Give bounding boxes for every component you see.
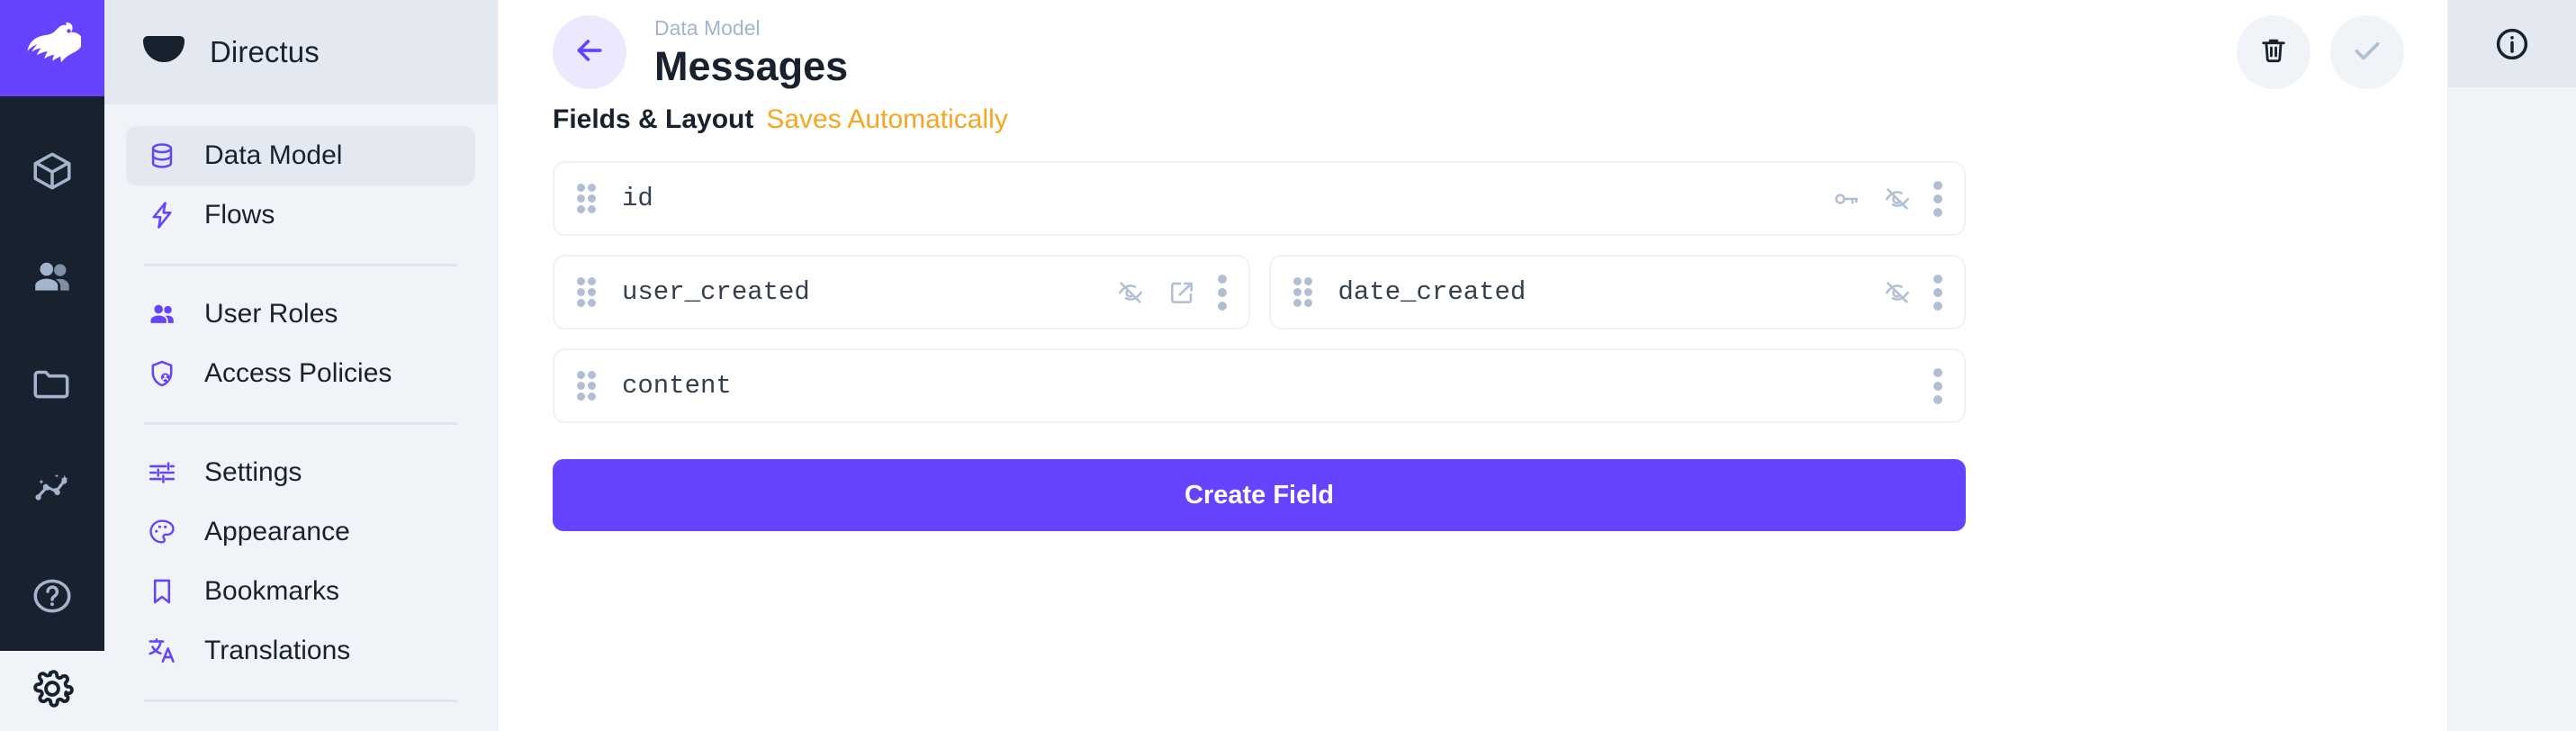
kebab-menu-icon[interactable] — [1933, 368, 1942, 404]
back-button[interactable] — [553, 15, 626, 89]
section-title: Fields & Layout — [553, 104, 753, 135]
sidebar-item-access-policies[interactable]: Access Policies — [126, 344, 475, 403]
sidebar-divider — [144, 699, 457, 702]
field-name: user_created — [622, 277, 810, 307]
drag-handle-icon[interactable] — [577, 373, 600, 400]
navigation-sidebar: Directus Data Model — [104, 0, 498, 731]
kebab-menu-icon[interactable] — [1933, 275, 1942, 311]
drag-handle-icon[interactable] — [577, 279, 600, 306]
fields-layout-section: Fields & Layout Saves Automatically id — [498, 104, 2447, 531]
sidebar-item-bookmarks[interactable]: Bookmarks — [126, 562, 475, 621]
sidebar-item-label: Data Model — [204, 140, 342, 171]
page-title-block: Data Model Messages — [654, 15, 848, 88]
users-icon — [30, 255, 75, 304]
field-card-user-created[interactable]: user_created — [553, 255, 1250, 329]
sidebar-item-data-model[interactable]: Data Model — [126, 126, 475, 185]
sidebar-item-label: Bookmarks — [204, 576, 339, 607]
gear-icon — [29, 665, 76, 717]
save-button[interactable] — [2330, 15, 2404, 89]
drag-handle-icon[interactable] — [1293, 279, 1317, 306]
trash-icon — [2257, 34, 2290, 71]
sidebar-item-settings[interactable]: Settings — [126, 443, 475, 502]
sidebar-nav-list: Data Model Flows User — [104, 104, 497, 720]
help-circle-icon — [30, 573, 75, 623]
directus-mark-icon — [143, 35, 185, 69]
breadcrumb[interactable]: Data Model — [654, 15, 848, 41]
field-actions — [1115, 275, 1227, 311]
directus-logo-button[interactable] — [0, 0, 104, 96]
field-name: content — [622, 371, 732, 401]
module-item-user-directory[interactable] — [0, 226, 104, 332]
eye-off-icon[interactable] — [1882, 184, 1913, 214]
sidebar-item-flows[interactable]: Flows — [126, 185, 475, 245]
module-item-settings[interactable] — [0, 651, 104, 731]
insights-icon — [30, 467, 75, 517]
field-card-content[interactable]: content — [553, 348, 1966, 423]
sidebar-item-label: Access Policies — [204, 358, 392, 389]
shield-person-icon — [144, 356, 180, 392]
arrow-left-icon — [572, 32, 608, 73]
app-root: Directus Data Model — [0, 0, 2576, 731]
sidebar-item-label: Flows — [204, 200, 275, 230]
drag-handle-icon[interactable] — [577, 185, 600, 212]
field-row: id — [553, 161, 1966, 236]
field-actions — [1831, 181, 1942, 217]
eye-off-icon[interactable] — [1115, 277, 1146, 308]
folder-icon — [30, 361, 75, 411]
header-actions — [2237, 15, 2404, 89]
create-field-button[interactable]: Create Field — [553, 459, 1966, 531]
page-header: Data Model Messages — [498, 0, 2447, 104]
kebab-menu-icon[interactable] — [1218, 275, 1227, 311]
people-icon — [144, 296, 180, 332]
info-circle-icon[interactable] — [2492, 24, 2532, 64]
directus-rabbit-logo-icon — [23, 23, 81, 74]
saves-automatically-note: Saves Automatically — [766, 104, 1007, 135]
info-sidebar — [2448, 0, 2576, 731]
sidebar-title: Directus — [210, 35, 320, 69]
key-icon[interactable] — [1831, 184, 1861, 214]
database-icon — [144, 138, 180, 174]
sidebar-header: Directus — [104, 0, 497, 104]
sidebar-item-translations[interactable]: Translations — [126, 621, 475, 681]
sidebar-item-label: User Roles — [204, 299, 338, 329]
translate-icon — [144, 633, 180, 669]
sidebar-item-label: Translations — [204, 636, 350, 666]
check-icon — [2349, 32, 2385, 73]
info-sidebar-header — [2448, 0, 2576, 87]
delete-collection-button[interactable] — [2237, 15, 2310, 89]
field-actions — [1933, 368, 1942, 404]
sidebar-item-appearance[interactable]: Appearance — [126, 502, 475, 562]
box-icon — [30, 149, 75, 198]
module-icon-list — [0, 96, 104, 651]
sidebar-item-user-roles[interactable]: User Roles — [126, 284, 475, 344]
palette-icon — [144, 514, 180, 550]
sidebar-item-label: Settings — [204, 457, 302, 488]
field-name: id — [622, 184, 653, 213]
kebab-menu-icon[interactable] — [1933, 181, 1942, 217]
module-item-insights[interactable] — [0, 438, 104, 545]
eye-off-icon[interactable] — [1882, 277, 1913, 308]
section-header: Fields & Layout Saves Automatically — [553, 104, 2392, 135]
field-name: date_created — [1338, 277, 1527, 307]
tune-icon — [144, 455, 180, 491]
module-item-help[interactable] — [0, 545, 104, 651]
main-content: Data Model Messages — [498, 0, 2448, 731]
field-row: content — [553, 348, 1966, 423]
module-item-file-library[interactable] — [0, 332, 104, 438]
sidebar-item-label: Appearance — [204, 517, 350, 547]
module-item-content[interactable] — [0, 120, 104, 226]
field-list: id — [553, 161, 1966, 423]
sidebar-divider — [144, 264, 457, 266]
bolt-icon — [144, 197, 180, 233]
bookmark-icon — [144, 573, 180, 609]
field-row: user_created — [553, 255, 1966, 329]
external-link-icon[interactable] — [1166, 277, 1197, 308]
field-actions — [1882, 275, 1942, 311]
sidebar-divider — [144, 422, 457, 425]
page-title: Messages — [654, 44, 848, 89]
field-card-date-created[interactable]: date_created — [1269, 255, 1967, 329]
field-card-id[interactable]: id — [553, 161, 1966, 236]
module-bar — [0, 0, 104, 731]
